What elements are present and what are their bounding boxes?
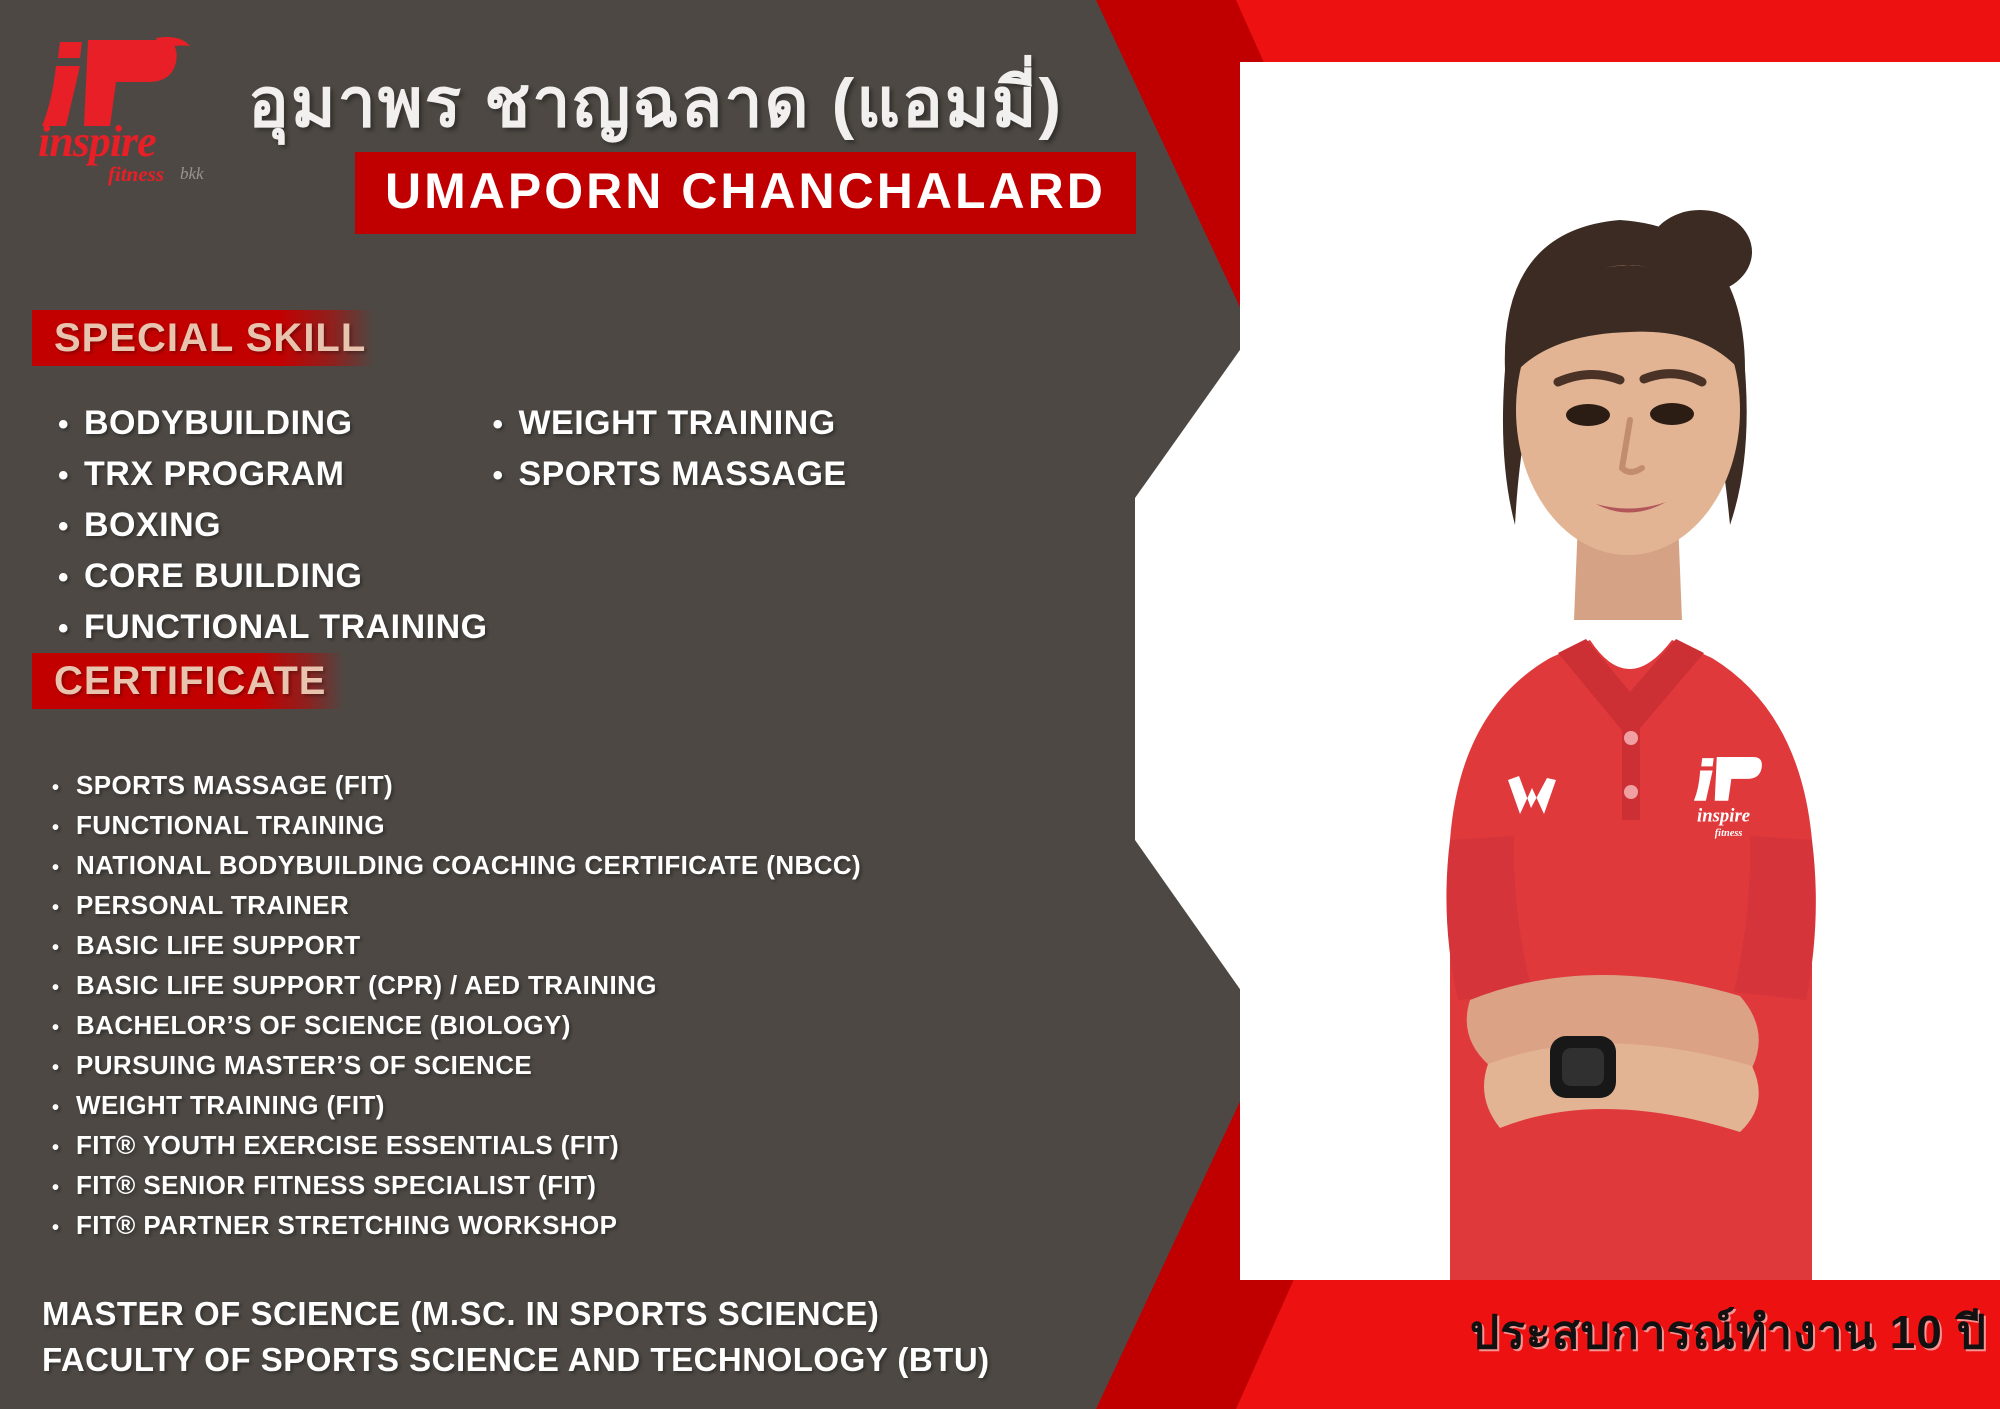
section-header-special-skill: SPECIAL SKILL [32,310,374,366]
bullet-icon: • [52,1058,76,1078]
certificate-label: FIT® YOUTH EXERCISE ESSENTIALS (FIT) [76,1130,619,1161]
certificate-item: • FUNCTIONAL TRAINING [52,810,1012,841]
skill-item: • CORE BUILDING [58,557,488,596]
special-skill-list: • BODYBUILDING • TRX PROGRAM • BOXING • … [58,404,958,659]
education-line-degree: MASTER OF SCIENCE (M.SC. IN SPORTS SCIEN… [42,1295,990,1333]
certificate-item: • FIT® PARTNER STRETCHING WORKSHOP [52,1210,1012,1241]
bullet-icon: • [492,461,518,491]
certificate-label: PERSONAL TRAINER [76,890,349,921]
certificate-item: • BASIC LIFE SUPPORT [52,930,1012,961]
certificate-item: • NATIONAL BODYBUILDING COACHING CERTIFI… [52,850,1012,881]
skill-label: BOXING [84,506,221,545]
bullet-icon: • [492,410,518,440]
section-header-certificate: CERTIFICATE [32,653,344,709]
skill-item: • FUNCTIONAL TRAINING [58,608,488,647]
certificate-label: FUNCTIONAL TRAINING [76,810,385,841]
svg-text:inspire: inspire [1697,806,1750,827]
skill-label: SPORTS MASSAGE [518,455,846,494]
certificate-list: • SPORTS MASSAGE (FIT) • FUNCTIONAL TRAI… [52,770,1012,1250]
certificate-label: FIT® PARTNER STRETCHING WORKSHOP [76,1210,617,1241]
certificate-label: BASIC LIFE SUPPORT (CPR) / AED TRAINING [76,970,657,1001]
experience-years-label: ประสบการณ์ทำงาน 10 ปี [1470,1296,1987,1369]
bullet-icon: • [52,898,76,918]
certificate-item: • PURSUING MASTER’S OF SCIENCE [52,1050,1012,1081]
special-skill-column-left: • BODYBUILDING • TRX PROGRAM • BOXING • … [58,404,488,659]
skill-label: FUNCTIONAL TRAINING [84,608,488,647]
skill-item: • SPORTS MASSAGE [492,455,932,494]
svg-text:fitness: fitness [1715,828,1743,839]
bullet-icon: • [52,1018,76,1038]
section-title-special-skill: SPECIAL SKILL [54,316,366,361]
trainer-name-banner: UMAPORN CHANCHALARD [355,152,1136,234]
certificate-label: NATIONAL BODYBUILDING COACHING CERTIFICA… [76,850,861,881]
trainer-name-thai: อุมาพร ชาญฉลาด (แอมมี่) [248,48,1063,156]
bullet-icon: • [52,858,76,878]
ip-monogram-icon [30,28,210,128]
photo-white-plate-notch [1135,230,1325,1110]
education-line-faculty: FACULTY OF SPORTS SCIENCE AND TECHNOLOGY… [42,1341,990,1379]
bullet-icon: • [58,563,84,593]
bullet-icon: • [52,778,76,798]
certificate-item: • FIT® YOUTH EXERCISE ESSENTIALS (FIT) [52,1130,1012,1161]
logo-locale-text: bkk [180,164,204,184]
skill-label: TRX PROGRAM [84,455,345,494]
bullet-icon: • [52,1098,76,1118]
skill-item: • TRX PROGRAM [58,455,488,494]
certificate-label: WEIGHT TRAINING (FIT) [76,1090,385,1121]
skill-item: • BODYBUILDING [58,404,488,443]
inspire-fitness-logo: inspire fitness bkk [30,28,210,188]
logo-subtext: fitness [108,162,164,187]
certificate-label: SPORTS MASSAGE (FIT) [76,770,393,801]
certificate-item: • BACHELOR’S OF SCIENCE (BIOLOGY) [52,1010,1012,1041]
trainer-profile-poster: TRAINER inspire fitness bkk อุมาพร ชาญฉล… [0,0,2000,1409]
certificate-item: • FIT® SENIOR FITNESS SPECIALIST (FIT) [52,1170,1012,1201]
bullet-icon: • [52,818,76,838]
certificate-label: BACHELOR’S OF SCIENCE (BIOLOGY) [76,1010,571,1041]
skill-label: BODYBUILDING [84,404,353,443]
skill-item: • WEIGHT TRAINING [492,404,932,443]
certificate-item: • WEIGHT TRAINING (FIT) [52,1090,1012,1121]
bullet-icon: • [52,1138,76,1158]
bullet-icon: • [58,461,84,491]
skill-label: WEIGHT TRAINING [518,404,835,443]
bullet-icon: • [58,512,84,542]
section-title-certificate: CERTIFICATE [54,659,326,704]
special-skill-column-right: • WEIGHT TRAINING • SPORTS MASSAGE [492,404,932,506]
certificate-item: • SPORTS MASSAGE (FIT) [52,770,1012,801]
bullet-icon: • [58,410,84,440]
certificate-label: PURSUING MASTER’S OF SCIENCE [76,1050,532,1081]
bullet-icon: • [52,978,76,998]
portrait-figure-icon: inspire fitness [1300,120,1940,1280]
certificate-item: • PERSONAL TRAINER [52,890,1012,921]
certificate-label: BASIC LIFE SUPPORT [76,930,361,961]
logo-wordmark: inspire [38,116,156,167]
trainer-name-english: UMAPORN CHANCHALARD [385,162,1106,220]
certificate-item: • BASIC LIFE SUPPORT (CPR) / AED TRAININ… [52,970,1012,1001]
trainer-portrait: inspire fitness [1300,120,1940,1280]
bullet-icon: • [52,938,76,958]
skill-item: • BOXING [58,506,488,545]
bullet-icon: • [52,1178,76,1198]
bullet-icon: • [58,614,84,644]
certificate-label: FIT® SENIOR FITNESS SPECIALIST (FIT) [76,1170,596,1201]
education-block: MASTER OF SCIENCE (M.SC. IN SPORTS SCIEN… [42,1295,990,1387]
bullet-icon: • [52,1218,76,1238]
skill-label: CORE BUILDING [84,557,363,596]
